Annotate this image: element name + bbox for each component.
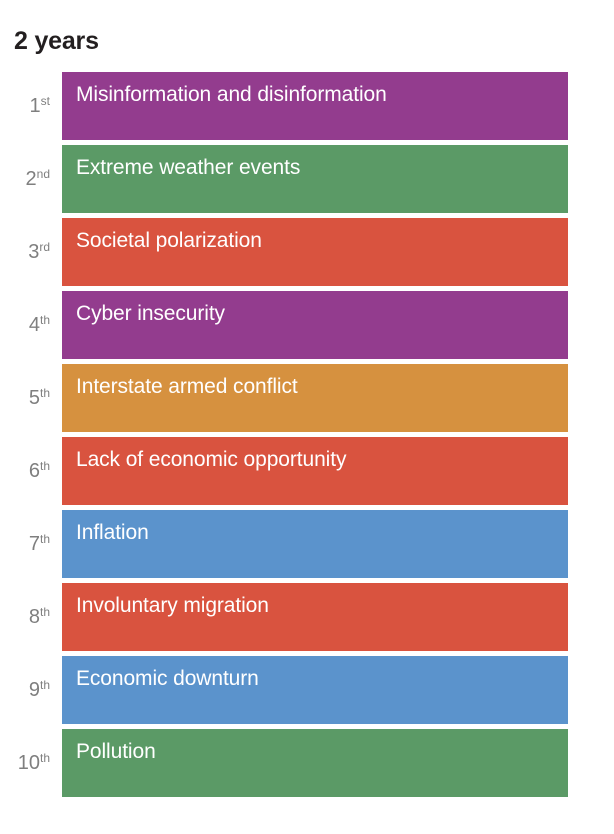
rank-label: 1st — [0, 72, 50, 140]
rank-number: 5 — [29, 388, 40, 408]
rank-label: 3rd — [0, 218, 50, 286]
rank-label: 2nd — [0, 145, 50, 213]
rank-label: 5th — [0, 364, 50, 432]
risk-row: 6thLack of economic opportunity — [0, 437, 614, 505]
rank-number: 2 — [26, 169, 37, 189]
rank-ordinal-suffix: th — [40, 679, 50, 691]
rank-ordinal-suffix: th — [40, 533, 50, 545]
rank-ordinal-suffix: th — [40, 752, 50, 764]
risk-row: 7thInflation — [0, 510, 614, 578]
rank-number: 7 — [29, 534, 40, 554]
rank-label: 8th — [0, 583, 50, 651]
rank-number: 3 — [28, 242, 39, 262]
rank-number: 8 — [29, 607, 40, 627]
rank-label: 7th — [0, 510, 50, 578]
risk-bar[interactable]: Societal polarization — [62, 218, 568, 286]
rank-number: 6 — [29, 461, 40, 481]
risk-row: 9thEconomic downturn — [0, 656, 614, 724]
risk-row: 8thInvoluntary migration — [0, 583, 614, 651]
risk-bar-label: Involuntary migration — [76, 593, 269, 619]
risk-row: 5thInterstate armed conflict — [0, 364, 614, 432]
rank-label: 4th — [0, 291, 50, 359]
risk-bar[interactable]: Lack of economic opportunity — [62, 437, 568, 505]
risk-ranking-list: 1stMisinformation and disinformation2ndE… — [0, 72, 614, 802]
risk-bar-label: Interstate armed conflict — [76, 374, 298, 400]
risk-row: 4thCyber insecurity — [0, 291, 614, 359]
rank-ordinal-suffix: th — [40, 314, 50, 326]
risk-bar-label: Economic downturn — [76, 666, 259, 692]
risk-bar[interactable]: Misinformation and disinformation — [62, 72, 568, 140]
rank-number: 4 — [29, 315, 40, 335]
risk-bar-label: Lack of economic opportunity — [76, 447, 346, 473]
rank-number: 10 — [18, 753, 40, 773]
rank-ordinal-suffix: st — [41, 95, 50, 107]
rank-label: 9th — [0, 656, 50, 724]
rank-ordinal-suffix: rd — [39, 241, 50, 253]
risk-bar[interactable]: Extreme weather events — [62, 145, 568, 213]
risk-bar[interactable]: Interstate armed conflict — [62, 364, 568, 432]
risk-row: 2ndExtreme weather events — [0, 145, 614, 213]
rank-ordinal-suffix: th — [40, 606, 50, 618]
risk-bar[interactable]: Involuntary migration — [62, 583, 568, 651]
risk-bar-label: Societal polarization — [76, 228, 262, 254]
rank-label: 6th — [0, 437, 50, 505]
page-title: 2 years — [14, 26, 99, 56]
risk-bar[interactable]: Pollution — [62, 729, 568, 797]
risk-bar-label: Pollution — [76, 739, 156, 765]
risk-bar[interactable]: Cyber insecurity — [62, 291, 568, 359]
risk-bar-label: Misinformation and disinformation — [76, 82, 387, 108]
risk-row: 1stMisinformation and disinformation — [0, 72, 614, 140]
rank-label: 10th — [0, 729, 50, 797]
risk-row: 3rdSocietal polarization — [0, 218, 614, 286]
rank-ordinal-suffix: nd — [37, 168, 50, 180]
risk-bar[interactable]: Economic downturn — [62, 656, 568, 724]
risk-bar-label: Cyber insecurity — [76, 301, 225, 327]
rank-ordinal-suffix: th — [40, 387, 50, 399]
global-risks-ranking-chart: 2 years 1stMisinformation and disinforma… — [0, 0, 614, 834]
risk-bar[interactable]: Inflation — [62, 510, 568, 578]
rank-ordinal-suffix: th — [40, 460, 50, 472]
risk-bar-label: Inflation — [76, 520, 149, 546]
risk-row: 10thPollution — [0, 729, 614, 797]
risk-bar-label: Extreme weather events — [76, 155, 300, 181]
rank-number: 9 — [29, 680, 40, 700]
rank-number: 1 — [30, 96, 41, 116]
